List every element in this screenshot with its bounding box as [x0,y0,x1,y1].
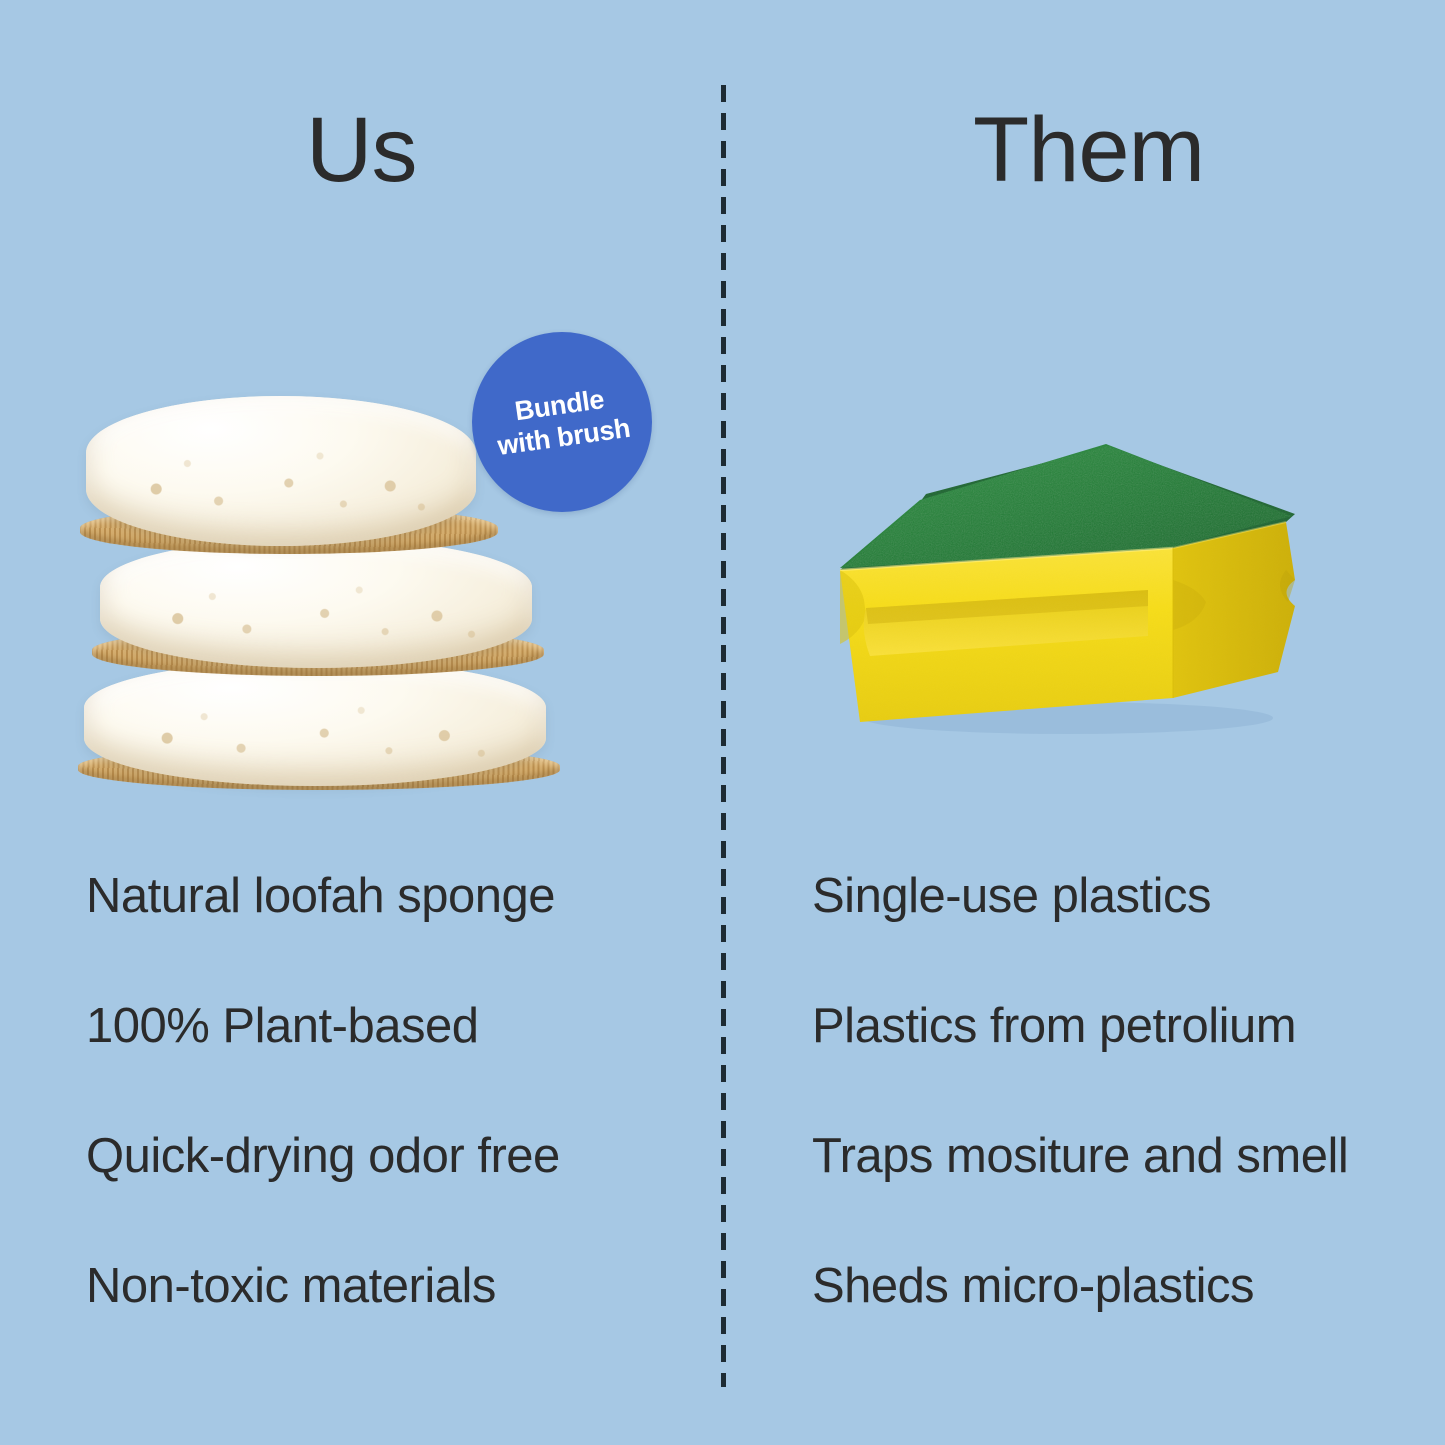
comparison-infographic: Us Them Bundle with brush [0,0,1445,1445]
column-divider [721,85,726,1387]
feature-left-3: Quick-drying odor free [86,1130,560,1184]
feature-left-2: 100% Plant-based [86,1000,478,1054]
feature-right-2: Plastics from petrolium [812,1000,1296,1054]
loofah-disc-top [86,396,476,546]
badge-label: Bundle with brush [491,381,632,463]
loofah-pores [84,660,546,786]
feature-right-4: Sheds micro-plastics [812,1260,1254,1314]
loofah-pores [86,396,476,546]
feature-right-3: Traps mositure and smell [812,1130,1348,1184]
loofah-disc-bottom [84,660,546,786]
bundle-with-brush-badge: Bundle with brush [472,332,652,512]
column-heading-us: Us [306,104,416,196]
plastic-scrub-sponge-image [808,430,1338,740]
feature-left-1: Natural loofah sponge [86,870,555,924]
column-heading-them: Them [973,104,1204,196]
loofah-disc-middle [100,538,532,668]
feature-left-4: Non-toxic materials [86,1260,496,1314]
loofah-pores [100,538,532,668]
feature-right-1: Single-use plastics [812,870,1211,924]
